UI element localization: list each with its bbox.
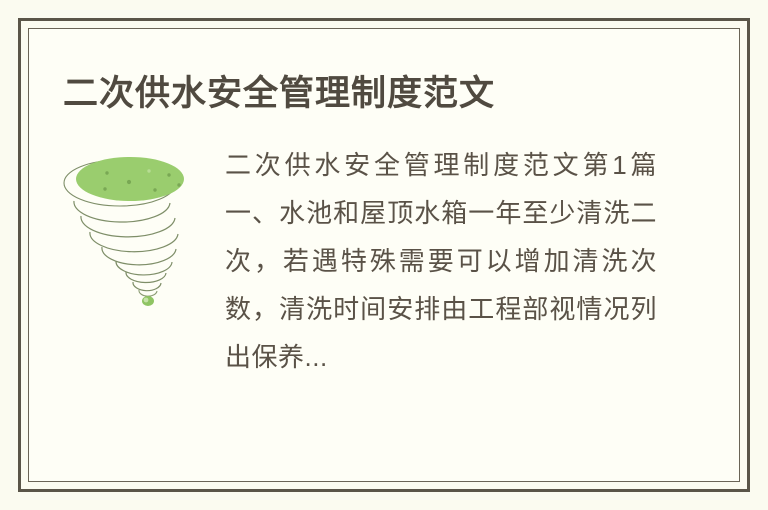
document-frame-outer: 二次供水安全管理制度范文	[18, 18, 750, 492]
document-body-text: 二次供水安全管理制度范文第1篇一、水池和屋顶水箱一年至少清洗二次，若遇特殊需要可…	[225, 141, 683, 381]
page-title: 二次供水安全管理制度范文	[63, 73, 495, 115]
document-content-row: 二次供水安全管理制度范文第1篇一、水池和屋顶水箱一年至少清洗二次，若遇特殊需要可…	[29, 141, 739, 381]
document-frame-inner: 二次供水安全管理制度范文	[28, 28, 740, 482]
illustration-container	[29, 141, 225, 314]
tornado-icon	[57, 149, 197, 314]
